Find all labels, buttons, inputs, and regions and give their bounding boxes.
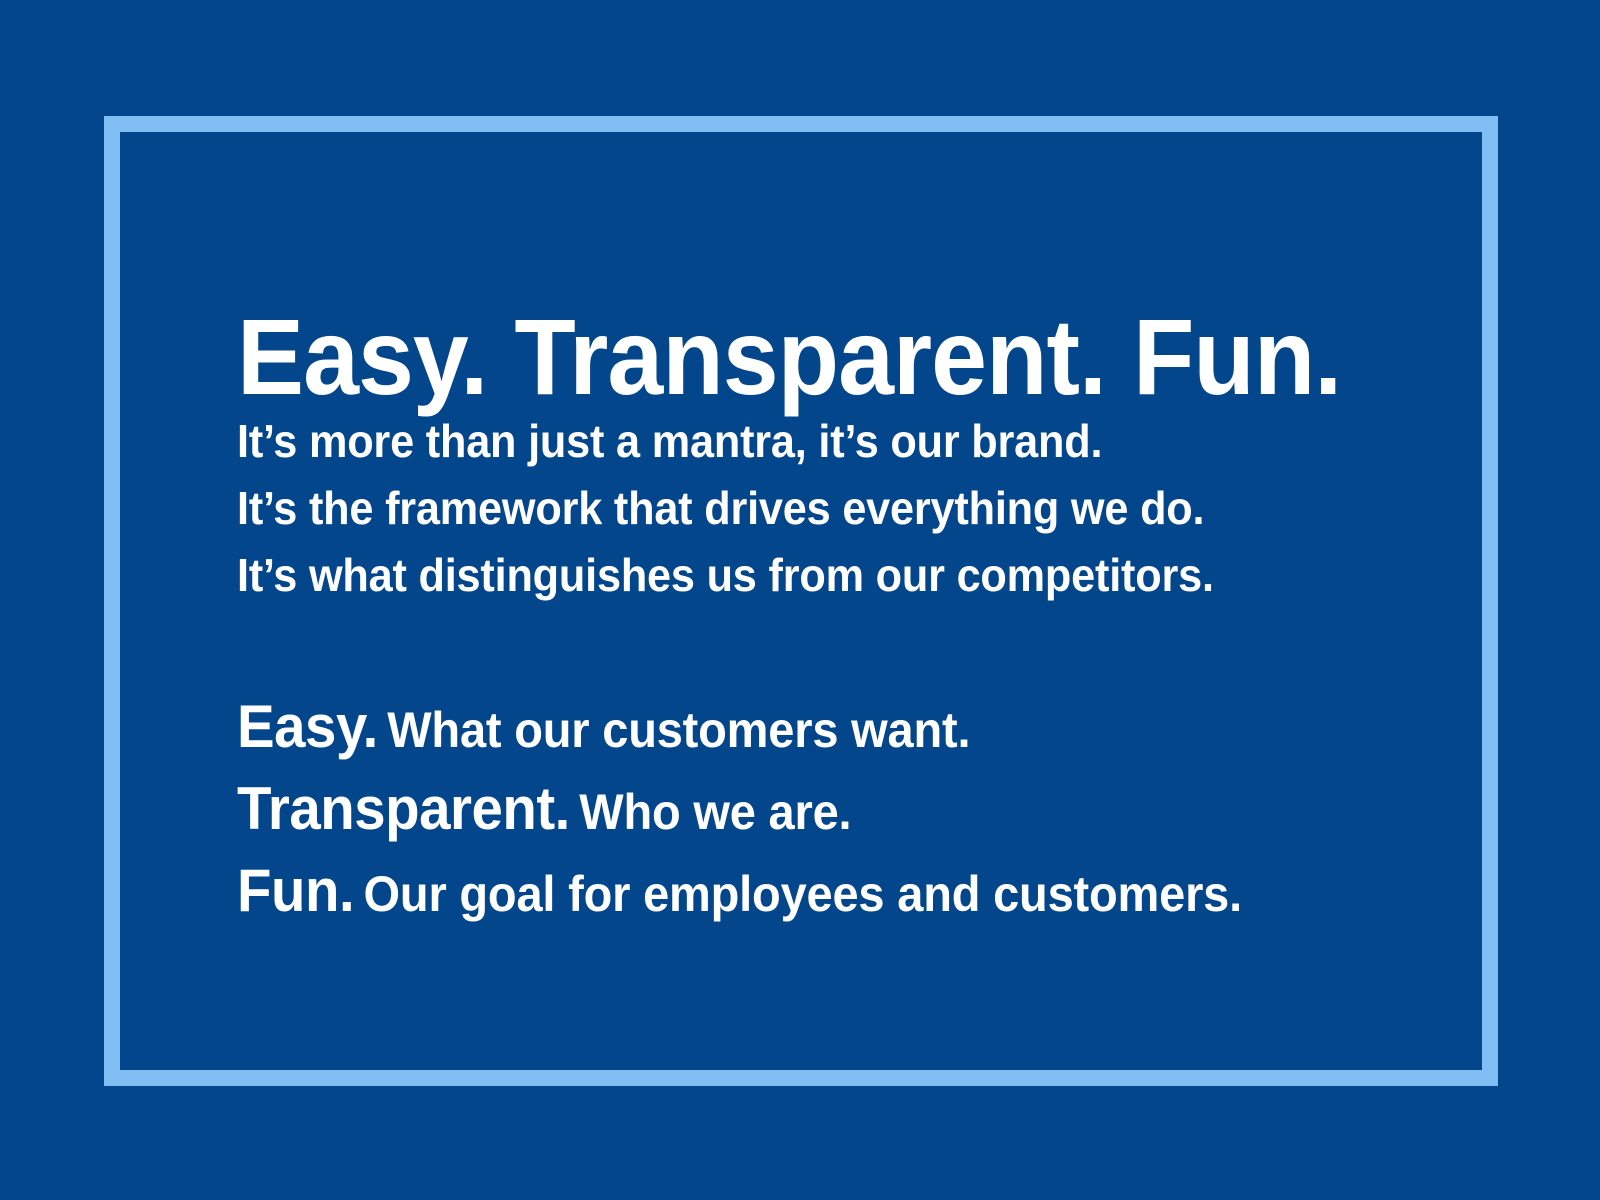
pillar-description-transparent: Who we are. [570, 784, 852, 840]
brand-mantra-slide: Easy. Transparent. Fun. It’s more than j… [0, 0, 1600, 1200]
pillar-description-easy: What our customers want. [378, 702, 970, 758]
pillar-term-fun: Fun. [237, 857, 354, 924]
intro-line-1: It’s more than just a mantra, it’s our b… [237, 408, 1214, 475]
pillar-item-easy: Easy.What our customers want. [237, 686, 1242, 768]
pillar-item-transparent: Transparent.Who we are. [237, 768, 1242, 850]
intro-line-3: It’s what distinguishes us from our comp… [237, 542, 1214, 609]
pillar-term-transparent: Transparent. [237, 775, 570, 842]
pillar-term-easy: Easy. [237, 693, 378, 760]
pillar-item-fun: Fun.Our goal for employees and customers… [237, 850, 1242, 932]
pillar-description-fun: Our goal for employees and customers. [354, 866, 1242, 922]
intro-line-2: It’s the framework that drives everythin… [237, 475, 1214, 542]
intro-paragraph: It’s more than just a mantra, it’s our b… [237, 408, 1214, 609]
pillars-list: Easy.What our customers want. Transparen… [237, 686, 1306, 932]
page-title: Easy. Transparent. Fun. [237, 300, 1341, 413]
